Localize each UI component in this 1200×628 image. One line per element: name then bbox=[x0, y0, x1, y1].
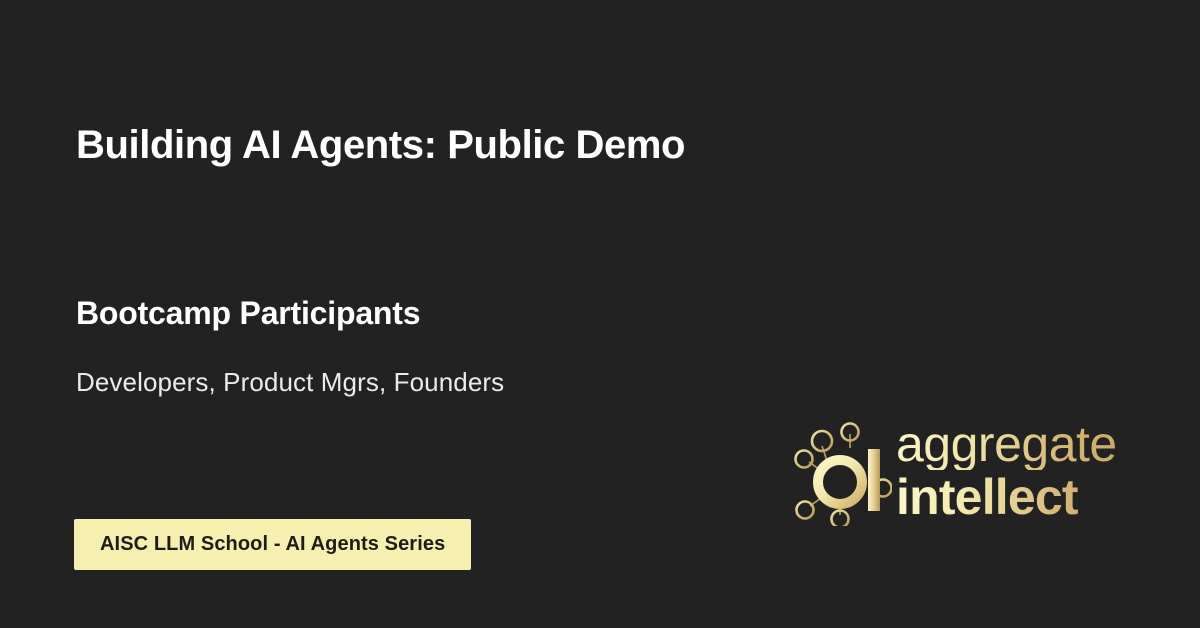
series-badge-label: AISC LLM School - AI Agents Series bbox=[100, 533, 445, 556]
page-title: Building AI Agents: Public Demo bbox=[76, 122, 685, 168]
brand-wordmark-line-2: intellect bbox=[896, 470, 1152, 524]
brand-logo: aggregate intellect bbox=[792, 418, 1152, 530]
brand-wordmark-line-1: aggregate bbox=[896, 418, 1152, 470]
series-badge: AISC LLM School - AI Agents Series bbox=[74, 519, 471, 570]
event-banner: Building AI Agents: Public Demo Bootcamp… bbox=[0, 0, 1200, 628]
brand-wordmark: aggregate intellect bbox=[896, 418, 1152, 530]
ai-node-graph-monogram-icon bbox=[792, 422, 892, 526]
audience-detail: Developers, Product Mgrs, Founders bbox=[76, 366, 504, 399]
audience-heading: Bootcamp Participants bbox=[76, 294, 420, 332]
